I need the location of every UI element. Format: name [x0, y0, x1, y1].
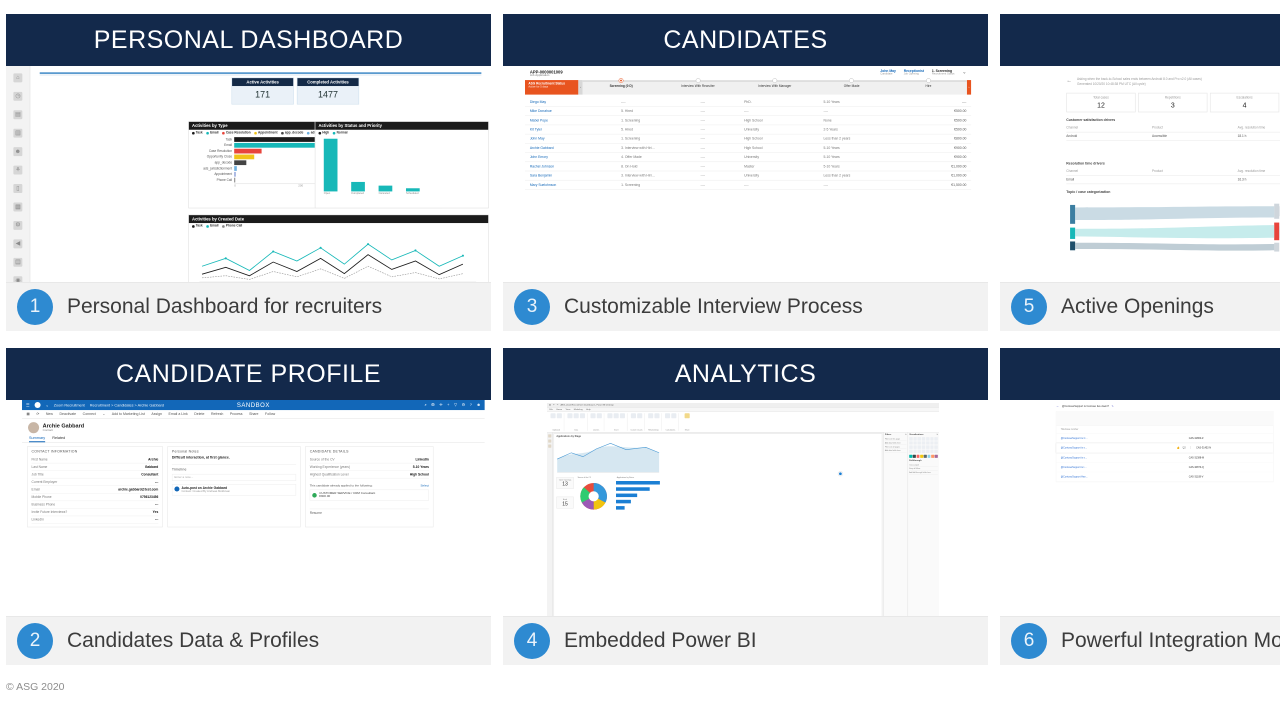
field-row[interactable]: Current Employer---: [32, 478, 159, 486]
accounts-icon[interactable]: ⚘: [13, 166, 22, 175]
card-candidates[interactable]: CANDIDATES APP-0000001009 Job Applicatio…: [503, 14, 988, 331]
window-title: ASG_ZoomRecruitment Dashboard - Power BI…: [560, 404, 613, 406]
bar-chart: [616, 479, 675, 513]
kpi-escalations: Escalations4: [1210, 92, 1279, 112]
legend-label: Email: [210, 225, 218, 228]
command-follow[interactable]: Follow: [265, 412, 275, 416]
caption-number-badge: 4: [514, 623, 550, 659]
applied-select-link[interactable]: Select: [421, 485, 429, 488]
chart-x-labels: Open Completed Canceled Scheduled: [315, 191, 488, 195]
chart-title: Activities by Status and Priority: [315, 122, 488, 130]
card-analytics[interactable]: ANALYTICS ▤ ↶ ↷ ASG_ZoomRecruitment Dash…: [503, 348, 988, 665]
avatar[interactable]: ☻: [476, 403, 480, 408]
application-header: APP-0000001009 Job Application John May …: [525, 66, 971, 77]
stage-next-arrow[interactable]: ›: [967, 80, 971, 95]
filter-icon[interactable]: ⛃: [431, 403, 434, 408]
viz-donut-icon[interactable]: [909, 446, 912, 449]
table-row[interactable]: Android Accessible 18.1 h 3.88: [1066, 132, 1280, 140]
bar-chart-title: Applications by Status: [617, 476, 634, 478]
openings-question: Asking when the back-to-School sales end…: [1077, 77, 1202, 87]
applied-header-row: This candidate already applied to the fo…: [310, 485, 429, 488]
post-avatar-icon: [174, 487, 179, 492]
table-row[interactable]: Diego May--------PhD.5-10 Years----: [525, 98, 971, 107]
column-bar: [406, 188, 420, 191]
card-candidate-profile[interactable]: CANDIDATE PROFILE ☰ ⌄ Zoom Recruitment R…: [6, 348, 491, 665]
tab-modeling[interactable]: Modeling: [574, 408, 583, 410]
caption-candidates: 3 Customizable Interview Process: [503, 283, 988, 331]
caption-number-badge: 1: [17, 289, 53, 325]
panel-candidate-details: CANDIDATE DETAILS Source of the CVLinked…: [305, 446, 433, 527]
card-header-analytics: ANALYTICS: [503, 348, 988, 400]
help-icon[interactable]: ?: [470, 403, 472, 408]
table-row[interactable]: Mary Suelohnson1. Screening------------€…: [525, 180, 971, 189]
section-topic-categorization: Topic / case categorization: [1066, 190, 1280, 256]
profile-top-nav: ☰ ⌄ Zoom Recruitment Recruitment > Candi…: [22, 400, 485, 410]
grid-icon[interactable]: ▦: [27, 412, 30, 416]
profile-columns: CONTACT INFORMATION First NameArchie Las…: [22, 443, 485, 531]
caption-job-openings: 5 Active Openings: [1000, 283, 1280, 331]
stage-dot-icon: [849, 78, 854, 83]
kpi-repetitions: Repetitions3: [1138, 92, 1207, 112]
app-integrations: ← @ContosoSupport is Contoso live down? …: [1052, 401, 1277, 601]
profile-command-bar: ▦ ⟳ New Deactivate Connect ⌄ Add to Mark…: [22, 410, 485, 419]
caption-integrations: 6 Powerful Integration Model: [1000, 617, 1280, 665]
column-bar: [324, 139, 338, 192]
pinned-icon[interactable]: ▤: [13, 110, 22, 119]
caption-text: Powerful Integration Model: [1061, 629, 1280, 653]
nav-icons: ⌕ ⛃ ✛ + ▽ ⚙ ? ☻: [425, 403, 481, 408]
legend-label: Case Resolution: [226, 131, 251, 134]
viz-funnel-icon[interactable]: [926, 446, 929, 449]
caption-text: Candidates Data & Profiles: [67, 629, 319, 653]
caption-number-badge: 3: [514, 289, 550, 325]
table-header: Channel Product Avg. resolution time Avg…: [1066, 124, 1280, 132]
command-new[interactable]: New: [46, 412, 53, 416]
caption-number-badge: 5: [1011, 289, 1047, 325]
table-row[interactable]: Rachel Johnson8. On Hold----Master5-10 Y…: [525, 162, 971, 171]
stage-dot-icon: [926, 78, 931, 83]
viz-pie-icon[interactable]: [934, 441, 937, 444]
ribbon-group-custom-visuals[interactable]: Custom visuals: [629, 413, 645, 431]
card-header-integrations: INTEGRATIONS: [1000, 348, 1280, 400]
tab-view[interactable]: View: [566, 408, 571, 410]
viz-card-icon[interactable]: [934, 446, 937, 449]
ribbon-group-queries[interactable]: Queries: [589, 413, 605, 431]
tab-related[interactable]: Related: [52, 436, 65, 443]
stage-step-interview-recruiter[interactable]: Interview With Recruiter: [660, 80, 737, 95]
donut-title: Source of the CV: [578, 476, 591, 478]
column-bar: [379, 186, 393, 192]
kpi-label: Completed Activities: [297, 78, 358, 86]
hamburger-icon[interactable]: ☰: [26, 403, 29, 408]
viz-waterfall-icon[interactable]: [926, 441, 929, 444]
caption-analytics: 4 Embedded Power BI: [503, 617, 988, 665]
undo-icon[interactable]: ↶: [553, 404, 555, 406]
command-refresh[interactable]: Refresh: [211, 412, 223, 416]
ribbon-group-relationships[interactable]: Relationships: [646, 413, 662, 431]
redo-icon[interactable]: ↷: [557, 404, 559, 406]
stage-track: Screening (0 D) Interview With Recruiter…: [583, 80, 967, 95]
legend-label: Email: [210, 131, 218, 134]
field-row[interactable]: Invite Future Interviews?Yes: [32, 509, 159, 517]
powerbi-ribbon: Clipboard Data Queries Insert Custom vis…: [547, 412, 939, 432]
plus-icon[interactable]: +: [447, 403, 449, 408]
cursor-icon: [838, 472, 842, 476]
stage-badge: ASG Recruitment Status Active for 5 days: [525, 80, 578, 95]
openings-question-sub: Generated 10/20/20 10:48:38 PM UTC (All …: [1077, 83, 1202, 87]
list-icon[interactable]: ▤: [13, 258, 22, 267]
save-icon[interactable]: ▤: [549, 404, 551, 406]
table-row[interactable]: John Emory4. Offer Made----University5-1…: [525, 153, 971, 162]
legend-label: Task: [196, 131, 203, 134]
card-header-job-openings: JOB OPENINGS: [1000, 14, 1280, 66]
card-personal-dashboard[interactable]: PERSONAL DASHBOARD ⌂ ◷ ▤ ▥ ☻ ⚘ ▯ ▦ ⚙ ◀ ▤…: [6, 14, 491, 331]
card-header-candidate-profile: CANDIDATE PROFILE: [6, 348, 491, 400]
table-row[interactable]: Mike Donahue5. Hired------------€500.00: [525, 107, 971, 116]
kpi-active-activities: Active Activities 171: [232, 78, 294, 105]
panel-contact-information: CONTACT INFORMATION First NameArchie Las…: [27, 446, 163, 527]
viz-area-icon[interactable]: [909, 441, 912, 444]
collapse-icon[interactable]: »: [937, 434, 938, 436]
powerbi-main: Applications by Stage Open Openings 13 H…: [547, 432, 939, 617]
sankey-diagram: [1066, 201, 1280, 255]
dashboard-command-bar: [40, 72, 482, 76]
command-connect[interactable]: Connect: [83, 412, 96, 416]
collapse-icon[interactable]: »: [905, 434, 906, 436]
app-candidate-profile: ☰ ⌄ Zoom Recruitment Recruitment > Candi…: [22, 400, 485, 617]
dashboard-sidebar-rail[interactable]: ⌂ ◷ ▤ ▥ ☻ ⚘ ▯ ▦ ⚙ ◀ ▤ ◉ ⊕: [6, 66, 30, 283]
tab-help[interactable]: Help: [586, 408, 590, 410]
command-email-a-link[interactable]: Email a Link: [169, 412, 188, 416]
back-icon[interactable]: ←: [1056, 404, 1060, 408]
legend-label: app_decode: [285, 131, 303, 134]
recent-icon[interactable]: ◷: [13, 92, 22, 101]
app-logo-icon: [34, 402, 40, 408]
slide-root: PERSONAL DASHBOARD ⌂ ◷ ▤ ▥ ☻ ⚘ ▯ ▦ ⚙ ◀ ▤…: [0, 0, 1280, 720]
table-row[interactable]: @ContosoSupport is s… 👍 💬 ⋮ CAS-31452-N: [1056, 443, 1273, 453]
chart-columns: [315, 136, 488, 191]
viz-r-script-icon[interactable]: [930, 450, 933, 453]
area-chart: [556, 439, 662, 474]
avatar: [28, 422, 39, 433]
powerbi-view-rail[interactable]: [547, 432, 552, 617]
screenshot-integrations: ← @ContosoSupport is Contoso live down? …: [1000, 400, 1280, 617]
field-row[interactable]: Job TitleConsultant: [32, 471, 159, 479]
application-subtitle: Job Application: [530, 74, 563, 77]
more-icon[interactable]: ⋮: [1189, 446, 1192, 449]
app-job-openings: ← Asking when the back-to-School sales e…: [1060, 72, 1280, 283]
tab-home[interactable]: Home: [556, 408, 562, 410]
line-chart-svg: [189, 229, 484, 283]
legend-label: Appointment: [258, 131, 277, 134]
timeline-post: Auto-post on Archie Gabbard Contact: Cre…: [172, 484, 296, 496]
recruitment-stage-bar[interactable]: ASG Recruitment Status Active for 5 days…: [525, 80, 971, 95]
screenshot-analytics: ▤ ↶ ↷ ASG_ZoomRecruitment Dashboard - Po…: [503, 400, 988, 617]
stage-step-hire[interactable]: Hire: [890, 80, 967, 95]
channel-header: ← @ContosoSupport is Contoso live down? …: [1056, 404, 1274, 408]
stage-dot-icon: [696, 78, 701, 83]
application-id-block: APP-0000001009 Job Application: [530, 69, 563, 77]
viz-kpi-icon[interactable]: [913, 450, 916, 453]
card-hired: Hired 15: [556, 497, 573, 509]
viz-matrix-icon[interactable]: [926, 450, 929, 453]
donut-chart: [577, 479, 611, 513]
caption-text: Personal Dashboard for recruiters: [67, 295, 382, 319]
comment-icon[interactable]: 💬: [1183, 446, 1186, 449]
visualizations-pane[interactable]: Visualizations» Drillthrough Cross: [908, 432, 939, 617]
table-row[interactable]: Email 16.3 h: [1066, 176, 1280, 184]
field-row[interactable]: LinkedIn---: [32, 516, 159, 524]
nav-app-name[interactable]: Zoom Recruitment: [54, 403, 85, 408]
field-row[interactable]: Emailarchie.gabbard@test.com: [32, 486, 159, 494]
chart-activities-by-created-date[interactable]: Activities by Created Date Task Email Ph…: [188, 215, 488, 283]
field-row[interactable]: Business Phone---: [32, 501, 159, 509]
meta-recruitment-status: 1. Screening Recruitment Status: [932, 69, 955, 75]
stage-label: Offer Made: [844, 84, 860, 87]
app-power-bi: ▤ ↶ ↷ ASG_ZoomRecruitment Dashboard - Po…: [547, 403, 939, 617]
card-integrations[interactable]: INTEGRATIONS ← @ContosoSupport is Contos…: [1000, 348, 1280, 665]
legend-label: High: [322, 131, 329, 134]
edit-icon[interactable]: ✎: [1112, 405, 1114, 408]
filters-pane[interactable]: Filters» Filters on this page Add data f…: [883, 432, 907, 617]
table-header: Title Case number: [1056, 426, 1273, 434]
detail-row: Highest Qualification LevelHigh School: [310, 471, 429, 479]
command-add-to-marketing-list[interactable]: Add to Marketing List: [112, 412, 145, 416]
screenshot-personal-dashboard: ⌂ ◷ ▤ ▥ ☻ ⚘ ▯ ▦ ⚙ ◀ ▤ ◉ ⊕: [6, 66, 491, 283]
caption-number-badge: 6: [1011, 623, 1047, 659]
application-meta: John May Candidate Receptionist Job Open…: [880, 69, 966, 77]
contacts-icon[interactable]: ☻: [13, 147, 22, 156]
table-row[interactable]: Kit Tyler5. Hired----University2-5 Years…: [525, 125, 971, 134]
viz-ribbon-icon[interactable]: [922, 441, 925, 444]
viz-table-icon[interactable]: [922, 450, 925, 453]
caption-candidate-profile: 2 Candidates Data & Profiles: [6, 617, 491, 665]
command-delete[interactable]: Delete: [194, 412, 204, 416]
viz-slicer-icon[interactable]: [918, 450, 921, 453]
documents-icon[interactable]: ▯: [13, 184, 22, 193]
ribbon-group-insert[interactable]: Insert: [605, 413, 627, 431]
funnel-icon[interactable]: ▽: [454, 403, 457, 408]
kpi-total-cases: Total cases12: [1066, 92, 1135, 112]
screenshot-candidates: APP-0000001009 Job Application John May …: [503, 66, 988, 283]
ribbon-group-calculations[interactable]: Calculations: [663, 413, 679, 431]
activities-icon[interactable]: ◉: [13, 276, 22, 283]
viz-100-column-icon[interactable]: [930, 437, 933, 440]
status-badge: [312, 493, 317, 498]
command-process[interactable]: Process: [230, 412, 243, 416]
stage-step-offer-made[interactable]: Offer Made: [813, 80, 890, 95]
viz-line-icon[interactable]: [934, 437, 937, 440]
copyright-notice: © ASG 2020: [6, 681, 65, 693]
filter-dropzone[interactable]: Add data fields here: [885, 449, 907, 453]
field-row[interactable]: Last NameGabbard: [32, 463, 159, 471]
viz-100-bar-icon[interactable]: [926, 437, 929, 440]
table-row[interactable]: John May1. Screening----High SchoolLess …: [525, 134, 971, 143]
contact-type: Contact: [43, 429, 85, 432]
legend-label: Task: [196, 225, 203, 228]
timeline-note-input[interactable]: Enter a note...: [172, 474, 296, 481]
table-row[interactable]: Archie Gabbard3. Interview with Hiri…---…: [525, 144, 971, 153]
field-row[interactable]: Mobile Phone0756123456: [32, 494, 159, 502]
legend-label: Phone Call: [226, 225, 242, 228]
drill-dropzone[interactable]: Add drill-through fields here: [909, 471, 938, 475]
viz-python-icon[interactable]: [934, 450, 937, 453]
caption-text: Embedded Power BI: [564, 629, 757, 653]
caption-number-badge: 2: [17, 623, 53, 659]
legend-label: Normal: [337, 131, 348, 134]
chevron-down-icon[interactable]: ⌄: [46, 403, 49, 408]
stage-dot-icon: [619, 78, 624, 83]
meta-candidate: John May Candidate: [880, 69, 896, 75]
ribbon-group-data[interactable]: Data: [565, 413, 587, 431]
viz-treemap-icon[interactable]: [913, 446, 916, 449]
refresh-icon[interactable]: ⟳: [36, 412, 39, 416]
table-row[interactable]: @ContosoSupport is t… CAS-30873-Q: [1056, 463, 1273, 473]
column-bar: [351, 182, 365, 191]
viz-clustered-column-icon[interactable]: [922, 437, 925, 440]
table-row[interactable]: Sara Benjamin3. Interview with Hiri…----…: [525, 171, 971, 180]
card-header-personal-dashboard: PERSONAL DASHBOARD: [6, 14, 491, 66]
home-icon[interactable]: ⌂: [13, 73, 22, 82]
post-subtitle: Contact: Created By Andreas Moldovan: [181, 490, 230, 493]
viz-clustered-bar-icon[interactable]: [918, 437, 921, 440]
stage-label: Interview With Recruiter: [681, 84, 714, 87]
kpi-value: 171: [232, 86, 293, 104]
profile-tabs: Summary Related: [22, 433, 485, 443]
dashboard-kpi-row: Active Activities 171 Completed Activiti…: [232, 78, 360, 105]
detail-row: Source of the CVLinkedIn: [310, 456, 429, 464]
table-row[interactable]: @ContosoSupport is s… CAS-31388-M: [1056, 453, 1273, 463]
reports-icon[interactable]: ▦: [13, 202, 22, 211]
gear-icon[interactable]: ⚙: [462, 403, 466, 408]
app-candidates: APP-0000001009 Job Application John May …: [525, 66, 971, 275]
detail-row: Working Experience (years)5-10 Years: [310, 463, 429, 471]
viz-gauge-icon[interactable]: [930, 446, 933, 449]
stage-step-screening[interactable]: Screening (0 D): [583, 80, 660, 95]
stage-label: Screening (0 D): [610, 84, 633, 87]
card-job-openings[interactable]: JOB OPENINGS ← Asking when the back-to-S…: [1000, 14, 1280, 331]
kpi-completed-activities: Completed Activities 1477: [297, 78, 359, 105]
tab-file[interactable]: File: [549, 408, 552, 410]
resume-header: Resume: [310, 509, 429, 516]
openings-kpi-row: Total cases12 Repetitions3 Escalations4 …: [1066, 92, 1280, 112]
applied-item-amount: €900.00: [319, 495, 375, 498]
app-personal-dashboard: ⌂ ◷ ▤ ▥ ☻ ⚘ ▯ ▦ ⚙ ◀ ▤ ◉ ⊕: [6, 66, 491, 283]
search-icon[interactable]: ⌕: [425, 403, 427, 408]
dashboard-body: Active Activities 171 Completed Activiti…: [30, 66, 491, 283]
table-row[interactable]: @ContosoSupport Hav… CAS-31108-V: [1056, 472, 1273, 482]
openings-header: ← Asking when the back-to-School sales e…: [1066, 77, 1280, 87]
channel-title: @ContosoSupport is Contoso live down?: [1062, 405, 1109, 408]
stage-step-interview-manager[interactable]: Interview With Manager: [736, 80, 813, 95]
chart-title: Activities by Created Date: [189, 215, 488, 223]
field-row[interactable]: First NameArchie: [32, 456, 159, 464]
row-actions: 👍 💬 ⋮: [1177, 446, 1192, 449]
table-row[interactable]: Mabel Pope1. Screening----High SchoolNon…: [525, 116, 971, 125]
table-row[interactable]: @ContosoSupport is C… CAS-31860-Z: [1056, 434, 1273, 444]
viz-scatter-icon[interactable]: [930, 441, 933, 444]
caption-text: Active Openings: [1061, 295, 1214, 319]
stage-label: Interview With Manager: [758, 84, 791, 87]
screenshot-job-openings: ← Asking when the back-to-School sales e…: [1000, 66, 1280, 283]
report-title: Applications by Stage: [556, 436, 581, 438]
viz-map-icon[interactable]: [918, 446, 921, 449]
command-share[interactable]: Share: [249, 412, 258, 416]
kpi-value: 1477: [297, 86, 358, 104]
candidates-table: Diego May--------PhD.5-10 Years---- Mike…: [525, 98, 971, 190]
viz-stacked-area-icon[interactable]: [913, 441, 916, 444]
color-swatches[interactable]: [909, 455, 938, 458]
stage-label: Hire: [926, 84, 932, 87]
tab-summary[interactable]: Summary: [29, 436, 45, 443]
command-deactivate[interactable]: Deactivate: [59, 412, 76, 416]
viz-filled-map-icon[interactable]: [922, 446, 925, 449]
profile-title-row: Archie Gabbard Contact: [22, 419, 485, 434]
breadcrumb[interactable]: Recruitment > Candidates > Archie Gabbar…: [90, 403, 164, 408]
meta-job-opening: Receptionist Job Opening: [904, 69, 924, 75]
viz-multirow-card-icon[interactable]: [909, 450, 912, 453]
settings-icon[interactable]: ⚙: [13, 221, 22, 230]
ribbon-group-clipboard[interactable]: Clipboard: [549, 413, 565, 431]
visualization-type-grid[interactable]: [909, 437, 938, 453]
chevron-down-icon[interactable]: ⌄: [962, 69, 966, 74]
section-resolution-drivers: Resolution time drivers Channel Product …: [1066, 162, 1280, 184]
add-icon[interactable]: ✛: [439, 403, 442, 408]
briefcase-icon[interactable]: ▥: [13, 129, 22, 138]
kpi-label: Active Activities: [232, 78, 293, 86]
cases-panel: Title Case number @ContosoSupport is C… …: [1056, 411, 1274, 482]
caption-personal-dashboard: 1 Personal Dashboard for recruiters: [6, 283, 491, 331]
panel-toolbar: [1056, 412, 1273, 426]
viz-line-column-icon[interactable]: [918, 441, 921, 444]
section-satisfaction-drivers: Customer satisfaction drivers Channel Pr…: [1066, 118, 1280, 140]
back-icon[interactable]: ←: [1066, 77, 1072, 83]
ribbon-group-share[interactable]: Share: [680, 413, 695, 431]
report-canvas[interactable]: Applications by Stage Open Openings 13 H…: [554, 434, 882, 617]
announcement-icon[interactable]: ◀: [13, 239, 22, 248]
table-header: Channel Product Avg. resolution time Avg…: [1066, 167, 1280, 175]
viz-stacked-column-icon[interactable]: [913, 437, 916, 440]
overflow-icon[interactable]: ⌄: [102, 412, 105, 416]
like-icon[interactable]: 👍: [1177, 446, 1180, 449]
panel-timeline: Personal Notes Difficult interaction, at…: [167, 446, 300, 527]
caption-text: Customizable Interview Process: [564, 295, 863, 319]
card-header-candidates: CANDIDATES: [503, 14, 988, 66]
screenshot-candidate-profile: ☰ ⌄ Zoom Recruitment Recruitment > Candi…: [6, 400, 491, 617]
card-open-openings: Open Openings 13: [556, 477, 573, 489]
command-assign[interactable]: Assign: [151, 412, 162, 416]
notes-value: Difficult interaction, at first glance.: [172, 456, 296, 460]
stage-dot-icon: [772, 78, 777, 83]
chart-activities-by-status[interactable]: Activities by Status and Priority High N…: [315, 121, 489, 208]
viz-stacked-bar-icon[interactable]: [909, 437, 912, 440]
applied-item-row[interactable]: CUSTOMER SERVICE / CRM Consultant €900.0…: [310, 490, 429, 501]
